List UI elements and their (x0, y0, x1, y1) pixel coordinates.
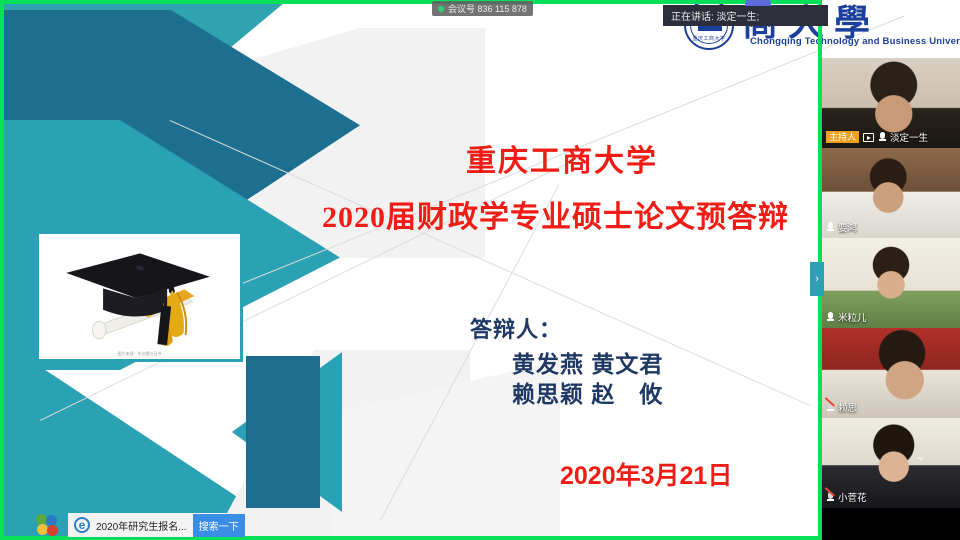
meeting-window: 图片来源：毕业帽与证书 重庆工商大学 商大學 Chongqing Technol… (0, 0, 960, 540)
slide-date: 2020年3月21日 (560, 456, 732, 492)
video-tile[interactable]: 小菅花 ⌄ (822, 418, 960, 508)
host-badge: 主持人 (826, 131, 859, 144)
microphone-icon[interactable] (878, 132, 886, 143)
chevron-right-icon: › (815, 273, 819, 285)
collapse-panel-button[interactable]: › (810, 262, 824, 296)
toast-notch (745, 0, 771, 6)
search-button[interactable]: 搜索一下 (193, 514, 245, 537)
graduation-cap-image: 图片来源：毕业帽与证书 (36, 231, 243, 362)
recording-dot-icon (438, 6, 444, 12)
image-credit: 图片来源：毕业帽与证书 (118, 351, 162, 357)
presenter-names-row1: 黄发燕 黄文君 (512, 345, 663, 379)
browser-icon: e (74, 517, 90, 533)
slide-title-line1: 重庆工商大学 (466, 136, 658, 180)
video-tile[interactable]: 要鸿 (822, 148, 960, 238)
active-speaker-label: 正在讲话: 淡定一生; (671, 8, 759, 23)
participant-name: 米粒儿 (838, 310, 867, 324)
app-launcher-icon[interactable] (36, 514, 58, 536)
logo-english-name: Chongqing Technology and Business Univer… (750, 36, 960, 47)
taskbar: e 2020年研究生报名... 搜索一下 (36, 512, 245, 538)
presenter-label: 答辩人： (470, 312, 562, 344)
participant-name: 小菅花 (838, 490, 867, 504)
microphone-icon[interactable] (826, 222, 834, 233)
video-tile[interactable]: 赖思 (822, 328, 960, 418)
microphone-icon[interactable] (826, 312, 834, 323)
taskbar-window-title: 2020年研究生报名... (96, 518, 187, 533)
participant-name: 赖思 (838, 400, 857, 414)
participant-filmstrip[interactable]: › 主持人 淡定一生 要鸿 米粒儿 赖思 (822, 58, 960, 540)
slide-title-line2: 2020届财政学专业硕士论文预答辩 (322, 192, 789, 236)
microphone-muted-icon[interactable] (826, 492, 834, 503)
participant-name: 要鸿 (838, 220, 857, 234)
presenter-names-row2: 赖思颖 赵 攸 (512, 375, 663, 409)
participant-name: 淡定一生 (890, 130, 928, 144)
video-tile[interactable]: 米粒儿 (822, 238, 960, 328)
chevron-down-icon[interactable]: ⌄ (915, 448, 926, 464)
meeting-id-pill[interactable]: 会议号 836 115 878 (432, 1, 533, 16)
screen-share-icon (863, 133, 874, 142)
meeting-id-label: 会议号 836 115 878 (448, 2, 527, 15)
active-speaker-toast: 正在讲话: 淡定一生; (663, 5, 828, 26)
decor-triangle-blue (246, 356, 320, 508)
seal-label: 重庆工商大学 (686, 35, 732, 42)
microphone-muted-icon[interactable] (826, 402, 834, 413)
taskbar-window-button[interactable]: e 2020年研究生报名... 搜索一下 (68, 513, 245, 537)
video-tile[interactable]: 主持人 淡定一生 (822, 58, 960, 148)
